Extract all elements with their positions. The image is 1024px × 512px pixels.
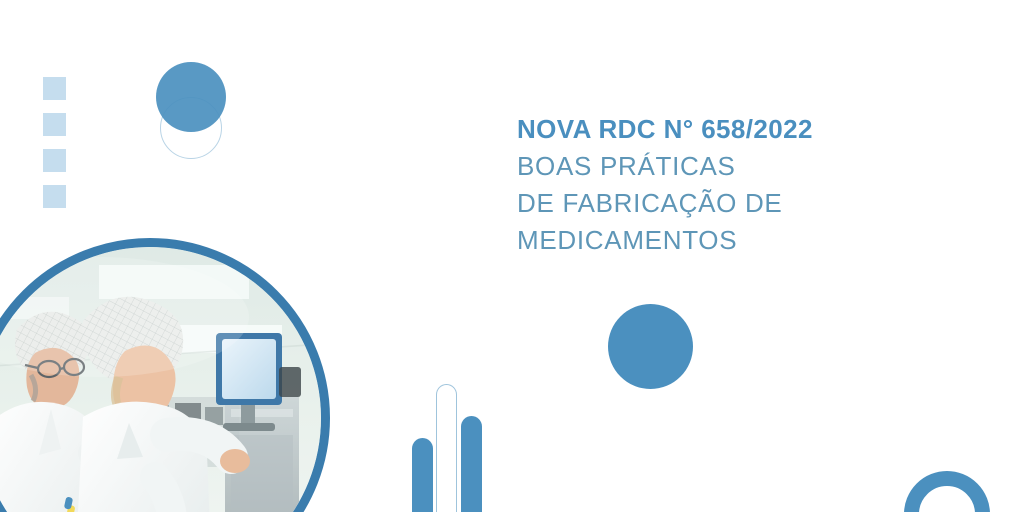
page-subtitle-line-1: BOAS PRÁTICAS	[517, 148, 947, 185]
decor-square-3	[43, 149, 66, 172]
page-subtitle-line-3: MEDICAMENTOS	[517, 222, 947, 259]
decor-squares-stack	[43, 77, 67, 209]
decor-square-2	[43, 113, 66, 136]
page-subtitle-line-2: DE FABRICAÇÃO DE	[517, 185, 947, 222]
decor-square-4	[43, 185, 66, 208]
page-title-headline: NOVA RDC N° 658/2022	[517, 112, 947, 146]
photo-circle-frame	[0, 238, 330, 512]
decor-square-1	[43, 77, 66, 100]
decor-bars-group	[410, 380, 490, 512]
decor-blue-ring	[904, 471, 990, 512]
slide-canvas: NOVA RDC N° 658/2022 BOAS PRÁTICAS DE FA…	[0, 0, 1024, 512]
decor-blue-circle	[608, 304, 693, 389]
decor-bar-right	[461, 416, 482, 512]
cleanroom-photo-illustration	[0, 247, 321, 512]
decor-bar-left	[412, 438, 433, 512]
photo-image	[0, 247, 321, 512]
decor-overlapping-circles	[156, 62, 266, 172]
decor-bar-middle-outline	[436, 384, 457, 512]
title-block: NOVA RDC N° 658/2022 BOAS PRÁTICAS DE FA…	[517, 112, 947, 259]
decor-circle-filled	[156, 62, 226, 132]
